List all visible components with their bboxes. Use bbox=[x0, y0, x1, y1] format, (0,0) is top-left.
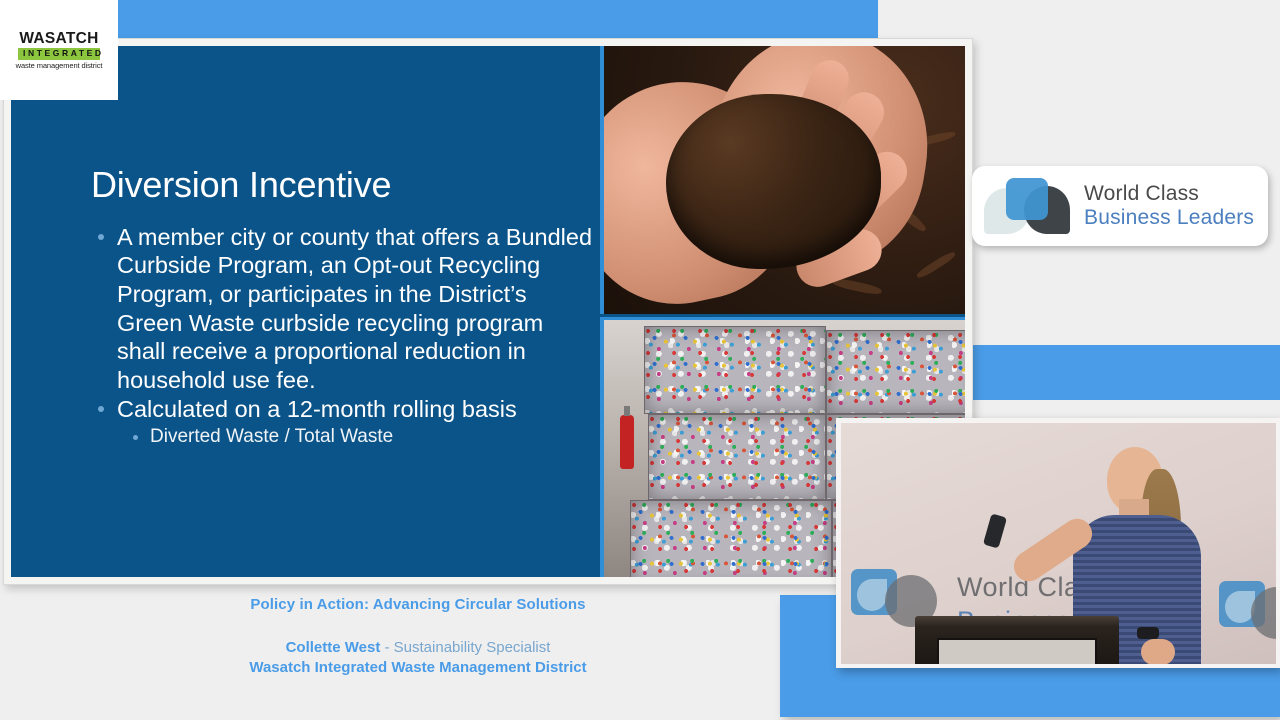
brand-band-right bbox=[963, 345, 1280, 400]
slide-subbullet-text: Diverted Waste / Total Waste bbox=[150, 426, 393, 447]
slide-bullet-list: A member city or county that offers a Bu… bbox=[91, 223, 596, 449]
screen-background: WASATCH INTEGRATED waste management dist… bbox=[0, 0, 1280, 720]
presenter-separator: - bbox=[380, 639, 393, 656]
backdrop-leaf-left-icon bbox=[857, 579, 887, 611]
slide-subbullet-list: Diverted Waste / Total Waste bbox=[117, 426, 596, 449]
speaker-video-panel[interactable]: World Class Business Leaders bbox=[836, 418, 1280, 668]
presenter-organization: Wasatch Integrated Waste Management Dist… bbox=[0, 659, 836, 676]
compost-photo bbox=[600, 46, 965, 314]
wasatch-logo-bar: INTEGRATED bbox=[18, 48, 100, 60]
fire-extinguisher bbox=[620, 415, 634, 469]
subbullet-dot-icon bbox=[133, 435, 138, 440]
bullet-dot-icon bbox=[98, 234, 104, 240]
session-title: Policy in Action: Advancing Circular Sol… bbox=[0, 596, 836, 613]
slide-frame: Diversion Incentive A member city or cou… bbox=[3, 38, 973, 585]
wristwatch bbox=[1137, 627, 1159, 639]
blue-square-icon bbox=[1006, 178, 1048, 220]
wcbl-line-2: Business Leaders bbox=[1084, 206, 1254, 230]
slide-bullet: Calculated on a 12-month rolling basis D… bbox=[91, 395, 596, 448]
wasatch-logo-subtitle: waste management district bbox=[16, 62, 103, 70]
speaker-hand bbox=[1141, 639, 1175, 664]
slide-text-column: Diversion Incentive A member city or cou… bbox=[91, 166, 596, 450]
caption-block: Policy in Action: Advancing Circular Sol… bbox=[0, 596, 836, 676]
slide-canvas: Diversion Incentive A member city or cou… bbox=[11, 46, 965, 577]
wcbl-mark-icon bbox=[982, 176, 1072, 236]
slide-subbullet: Diverted Waste / Total Waste bbox=[117, 426, 596, 449]
wasatch-logo-word: WASATCH bbox=[19, 31, 98, 47]
presenter-role: Sustainability Specialist bbox=[394, 639, 551, 656]
wasatch-logo: WASATCH INTEGRATED waste management dist… bbox=[0, 0, 118, 100]
bullet-dot-icon bbox=[98, 406, 104, 412]
slide-title: Diversion Incentive bbox=[91, 166, 596, 205]
brand-band-top bbox=[118, 0, 878, 42]
slide-bullet-text: A member city or county that offers a Bu… bbox=[117, 224, 592, 393]
slide-bullet-text: Calculated on a 12-month rolling basis bbox=[117, 396, 517, 422]
slide-bullet: A member city or county that offers a Bu… bbox=[91, 223, 596, 394]
world-class-business-leaders-logo: World Class Business Leaders bbox=[972, 166, 1268, 246]
presenter-line: Collette West - Sustainability Specialis… bbox=[0, 639, 836, 656]
speaker-video-feed[interactable]: World Class Business Leaders bbox=[841, 423, 1276, 664]
podium bbox=[915, 616, 1119, 664]
presenter-name: Collette West bbox=[286, 639, 381, 656]
wcbl-line-1: World Class bbox=[1084, 182, 1254, 206]
